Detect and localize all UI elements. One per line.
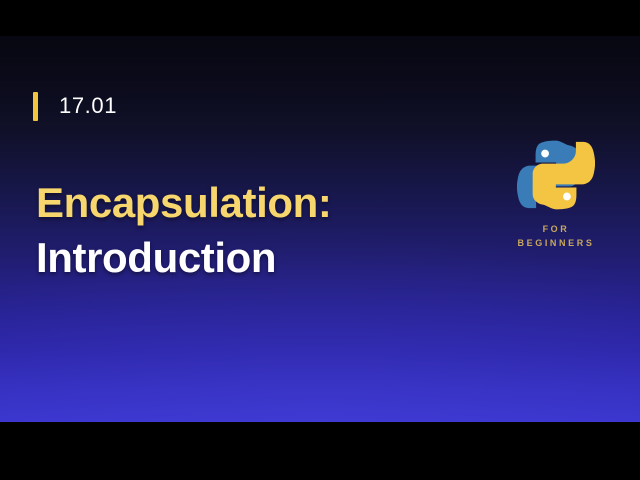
lesson-number-group: 17.01 [33,90,117,122]
letterbox-top [0,0,640,36]
slide-stage: 17.01 Encapsulation: Introduction FOR BE… [0,36,640,422]
brand-badge: FOR BEGINNERS [498,136,614,251]
brand-tagline-line2: BEGINNERS [518,237,595,251]
brand-tagline-line1: FOR [518,223,595,237]
title-line-subtopic: Introduction [36,231,466,286]
python-logo-icon [517,136,595,214]
brand-tagline: FOR BEGINNERS [518,223,595,251]
slide-title: Encapsulation: Introduction [36,176,466,285]
accent-bar-icon [33,92,38,121]
letterbox-bottom [0,422,640,480]
title-line-topic: Encapsulation: [36,176,466,231]
lesson-number: 17.01 [59,95,117,117]
video-frame: 17.01 Encapsulation: Introduction FOR BE… [0,0,640,480]
